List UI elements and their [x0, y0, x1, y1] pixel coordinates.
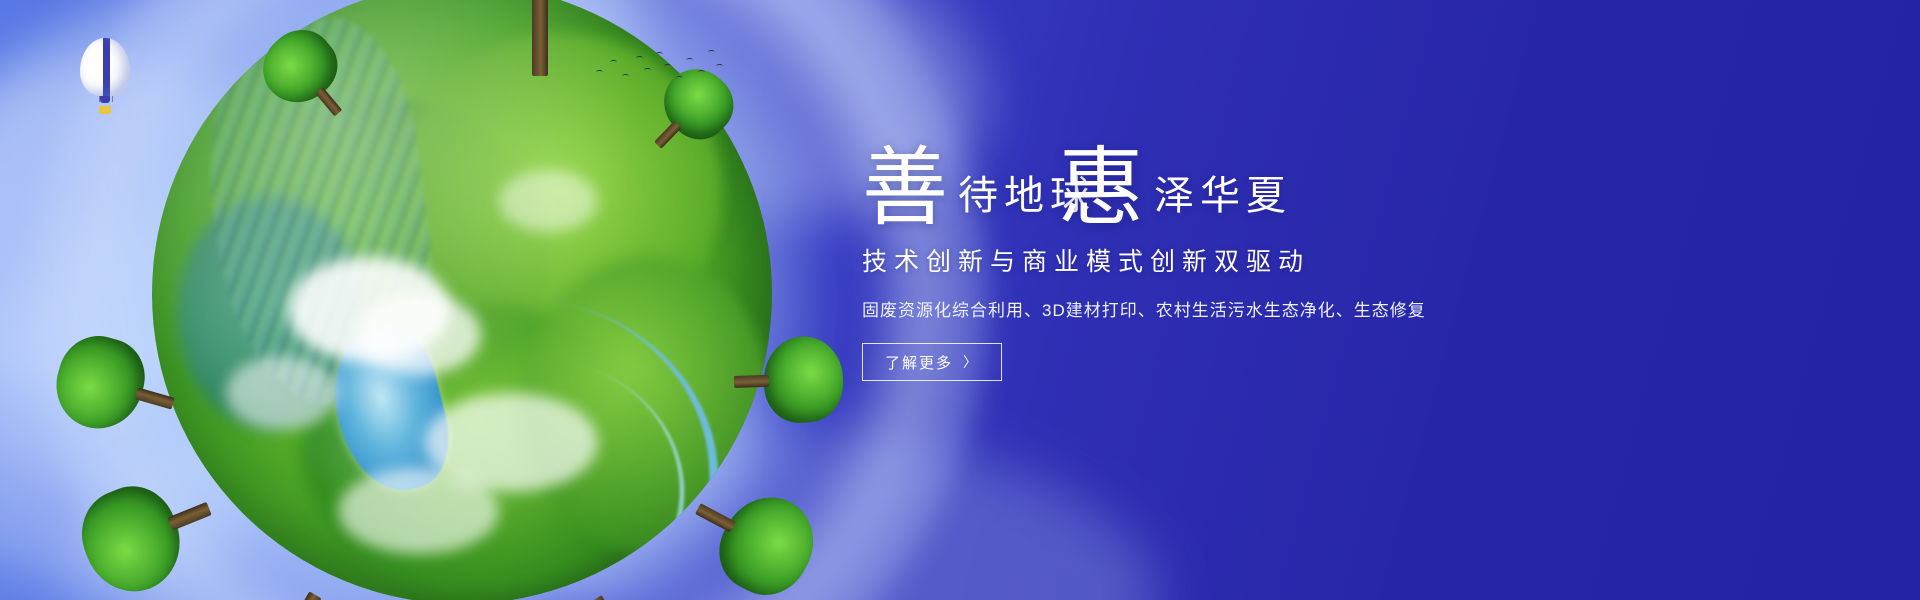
cloud-puff	[499, 170, 598, 232]
bird-icon	[636, 56, 643, 60]
learn-more-label: 了解更多	[885, 352, 953, 373]
cloud-puff	[338, 468, 499, 555]
cloud-puff	[357, 294, 481, 375]
hero-content: 善 待地球 惠 泽华夏 技术创新与商业模式创新双驱动 固废资源化综合利用、3D建…	[862, 118, 1582, 381]
bird-icon	[676, 76, 683, 80]
hero-description: 固废资源化综合利用、3D建材打印、农村生活污水生态净化、生态修复	[862, 296, 1582, 321]
bird-flock-icon	[592, 46, 722, 92]
terrain-patch	[177, 195, 363, 431]
tree-trunk	[167, 502, 211, 530]
terrain-patch	[301, 306, 661, 591]
chevron-right-icon: 〉	[963, 352, 979, 372]
tree-trunk	[654, 121, 681, 148]
bird-icon	[596, 70, 603, 74]
river	[456, 348, 708, 587]
bird-icon	[686, 58, 693, 62]
hero-subtitle: 技术创新与商业模式创新双驱动	[862, 242, 1582, 278]
tree-trunk	[734, 375, 770, 387]
hero-banner: 善 待地球 惠 泽华夏 技术创新与商业模式创新双驱动 固废资源化综合利用、3D建…	[0, 0, 1920, 600]
learn-more-button[interactable]: 了解更多 〉	[862, 343, 1002, 381]
tree-trunk	[532, 0, 549, 76]
bird-icon	[708, 50, 715, 54]
headline-big-char-1: 善	[862, 149, 948, 228]
tree-trunk	[695, 503, 736, 533]
bird-icon	[698, 70, 705, 74]
bird-icon	[644, 68, 651, 72]
headline-small-text-2: 泽华夏	[1154, 176, 1292, 228]
bird-icon	[656, 52, 663, 56]
balloon-ropes	[99, 96, 113, 102]
hot-air-balloon-icon	[80, 38, 130, 112]
bird-icon	[622, 74, 629, 78]
cloud-puff	[425, 393, 599, 492]
tree-trunk	[315, 87, 342, 117]
headline: 善 待地球 惠 泽华夏	[862, 118, 1582, 228]
headline-phrase-2: 惠 泽华夏	[1058, 149, 1292, 228]
balloon-envelope	[80, 38, 130, 96]
bird-icon	[716, 64, 723, 68]
tree-crown	[762, 335, 844, 424]
terrain-patch	[202, 96, 549, 418]
balloon-basket	[99, 106, 111, 114]
tree-trunk	[135, 387, 175, 409]
headline-big-char-2: 惠	[1058, 149, 1144, 228]
cloud-puff	[226, 356, 338, 430]
tree-icon	[731, 335, 844, 425]
tree-trunk	[590, 595, 623, 600]
bird-icon	[610, 60, 617, 64]
tree-trunk	[287, 591, 322, 600]
lake	[320, 321, 461, 503]
bird-icon	[664, 64, 671, 68]
cloud-puff	[288, 257, 449, 362]
